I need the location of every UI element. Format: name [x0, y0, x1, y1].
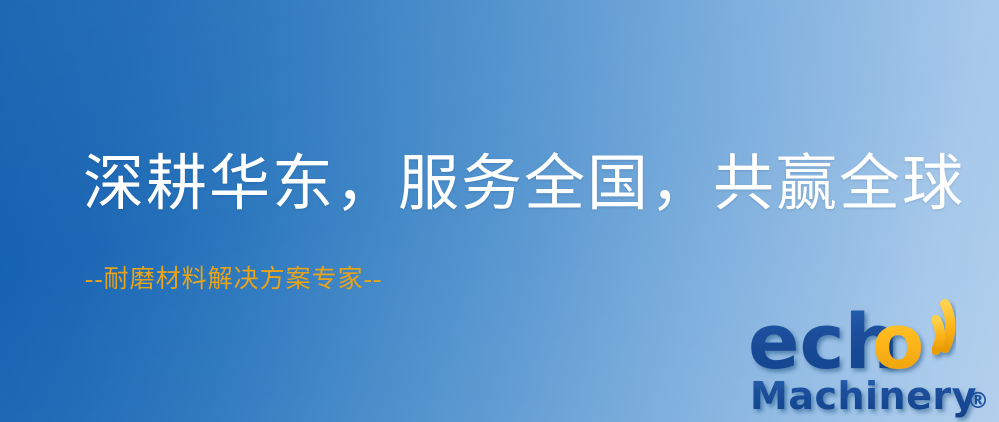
echo-wave-arc-outer	[945, 304, 950, 348]
echo-machinery-logo[interactable]: ech o Machinery ®	[748, 298, 999, 416]
logo-wordmark-o: o	[872, 297, 924, 386]
banner-subtitle: --耐磨材料解决方案专家--	[85, 265, 382, 295]
echo-wave-arcs	[936, 304, 950, 350]
banner-headline: 深耕华东，服务全国，共赢全球	[83, 150, 965, 220]
promo-banner: 深耕华东，服务全国，共赢全球 --耐磨材料解决方案专家--	[0, 0, 999, 422]
logo-wordmark-machinery: Machinery	[750, 374, 977, 418]
registered-trademark-icon: ®	[967, 389, 989, 414]
echo-wave-arc-inner	[936, 320, 940, 350]
